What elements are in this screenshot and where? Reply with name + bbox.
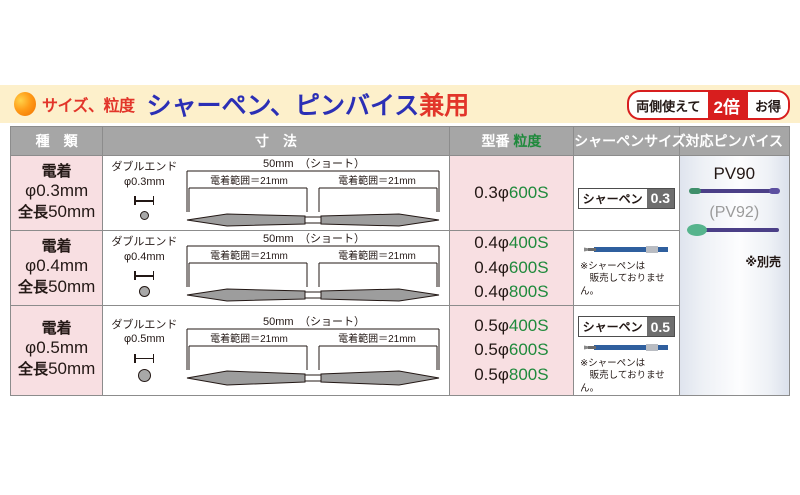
bit-dimension-drawing: 50mm （ショート） 電着範囲＝21mm 電着範囲＝21mm [183, 314, 445, 388]
coat-range-right-label: 電着範囲＝21mm [338, 249, 416, 262]
kind-line3: 全長50mm [11, 277, 102, 298]
model-item: 0.5φ400S [450, 314, 573, 339]
col-header-grain: 粒度 [513, 133, 541, 149]
model-item: 0.5φ800S [450, 363, 573, 388]
pin-vise-image-2 [685, 222, 783, 238]
header-title: シャーペン、ピンバイス兼用 [147, 86, 470, 122]
kind-length-label: 全長 [18, 279, 48, 296]
model-size: 0.4φ [474, 282, 509, 301]
cell-dimension: ダブルエンド φ0.3mm 50mm （ショート） 電着範囲＝21mm [103, 156, 449, 231]
pin-vise-image-1 [685, 184, 783, 198]
promo-multiplier: 2倍 [708, 92, 746, 118]
model-grain: 400S [509, 233, 549, 252]
model-grain: 600S [509, 183, 549, 202]
model-item: 0.5φ600S [450, 338, 573, 363]
bit-dimension-drawing: 50mm （ショート） 電着範囲＝21mm 電着範囲＝21mm [183, 156, 445, 230]
model-size: 0.3φ [474, 183, 509, 202]
promo-right-text: お得 [746, 92, 788, 118]
dimension-label-line1: ダブルエンド [111, 161, 177, 173]
header-title-main: シャーペン、ピンバイス [147, 92, 420, 120]
dimension-diagram: ダブルエンド φ0.4mm 50mm （ショート） 電着範囲＝21mm [103, 231, 448, 305]
header-title-highlight: 兼用 [419, 92, 469, 120]
orange-circle-icon [14, 92, 36, 116]
cell-model: 0.3φ600S [449, 156, 573, 231]
diameter-dot-icon [140, 211, 149, 220]
table-row: 電着 φ0.3mm 全長50mm ダブルエンド φ0.3mm 50mm （ショー… [11, 156, 790, 231]
kind-length-value: 50mm [48, 277, 95, 296]
model-item: 0.4φ600S [450, 256, 573, 281]
table-header-row: 種 類 寸 法 型番 粒度 シャーペンサイズ 対応ピンバイス [11, 127, 790, 156]
promo-badge: 両側使えて 2倍 お得 [627, 90, 790, 120]
diameter-bracket-icon [134, 271, 154, 280]
dimension-diagram: ダブルエンド φ0.5mm 50mm （ショート） 電着範囲＝21mm [103, 314, 448, 388]
cell-dimension: ダブルエンド φ0.4mm 50mm （ショート） 電着範囲＝21mm [103, 231, 449, 306]
model-item: 0.3φ600S [450, 181, 573, 206]
model-grain: 800S [509, 282, 549, 301]
kind-line2: φ0.5mm [11, 338, 102, 359]
pencil-badge-label: シャーペン [579, 189, 647, 208]
coat-range-left-label: 電着範囲＝21mm [210, 174, 288, 187]
bit-dimension-drawing: 50mm （ショート） 電着範囲＝21mm 電着範囲＝21mm [183, 231, 445, 305]
dimension-label-line2: φ0.3mm [107, 175, 181, 190]
diameter-bracket-icon [134, 196, 154, 205]
kind-line1: 電着 [11, 320, 102, 338]
header-subtitle: サイズ、粒度 [42, 92, 135, 116]
col-header-pencil-size: シャーペンサイズ [574, 127, 679, 156]
pencil-not-sold-note: ※シャーペンは 販売しておりません。 [574, 358, 678, 395]
col-header-pin-vise: 対応ピンバイス [679, 127, 789, 156]
cell-pencil-size: ※シャーペンは 販売しておりません。 [574, 231, 679, 306]
model-grain: 600S [509, 258, 549, 277]
model-size: 0.5φ [474, 340, 509, 359]
table-row: 電着 φ0.4mm 全長50mm ダブルエンド φ0.4mm 50mm （ショー… [11, 231, 790, 306]
col-header-dimension: 寸 法 [103, 127, 449, 156]
diameter-dot-icon [138, 369, 151, 382]
pencil-size-badge: シャーペン 0.3 [578, 188, 675, 209]
model-item: 0.4φ400S [450, 231, 573, 256]
model-size: 0.5φ [474, 316, 509, 335]
cell-model: 0.5φ400S 0.5φ600S 0.5φ800S [449, 306, 573, 396]
dimension-label-line2: φ0.5mm [107, 332, 181, 347]
kind-line1: 電着 [11, 238, 102, 256]
cell-kind: 電着 φ0.4mm 全長50mm [11, 231, 103, 306]
model-size: 0.4φ [474, 258, 509, 277]
pin-vise-note: ※別売 [680, 253, 789, 270]
total-length-label: 50mm （ショート） [263, 232, 365, 245]
coat-range-right-label: 電着範囲＝21mm [338, 332, 416, 345]
dimension-diagram: ダブルエンド φ0.3mm 50mm （ショート） 電着範囲＝21mm [103, 156, 448, 230]
pencil-not-sold-note: ※シャーペンは 販売しておりません。 [574, 261, 678, 298]
coat-range-left-label: 電着範囲＝21mm [210, 332, 288, 345]
kind-length-value: 50mm [48, 202, 95, 221]
mechanical-pencil-icon [580, 240, 672, 258]
dimension-label: ダブルエンド φ0.4mm [107, 235, 181, 265]
cell-model: 0.4φ400S 0.4φ600S 0.4φ800S [449, 231, 573, 306]
kind-line3: 全長50mm [11, 359, 102, 380]
model-grain: 800S [509, 365, 549, 384]
dimension-label-line1: ダブルエンド [111, 319, 177, 331]
cell-kind: 電着 φ0.3mm 全長50mm [11, 156, 103, 231]
pencil-badge-value: 0.3 [647, 189, 674, 208]
model-grain: 400S [509, 316, 549, 335]
cell-dimension: ダブルエンド φ0.5mm 50mm （ショート） 電着範囲＝21mm [103, 306, 449, 396]
total-length-label: 50mm （ショート） [263, 315, 365, 328]
kind-length-label: 全長 [18, 204, 48, 221]
model-item: 0.4φ800S [450, 280, 573, 305]
total-length-label: 50mm （ショート） [263, 157, 365, 170]
kind-line1: 電着 [11, 163, 102, 181]
kind-length-value: 50mm [48, 359, 95, 378]
dimension-label-line2: φ0.4mm [107, 250, 181, 265]
dimension-label: ダブルエンド φ0.5mm [107, 318, 181, 348]
diameter-dot-icon [139, 286, 150, 297]
promo-left-text: 両側使えて [629, 92, 707, 118]
dimension-label: ダブルエンド φ0.3mm [107, 160, 181, 190]
kind-line3: 全長50mm [11, 202, 102, 223]
model-size: 0.5φ [474, 365, 509, 384]
diameter-bracket-icon [134, 354, 154, 363]
pin-vise-model: PV90 [680, 164, 789, 184]
col-header-kind: 種 類 [11, 127, 103, 156]
cell-pencil-size: シャーペン 0.3 [574, 156, 679, 231]
product-spec-sheet: サイズ、粒度 シャーペン、ピンバイス兼用 両側使えて 2倍 お得 種 類 寸 法… [0, 0, 800, 495]
pencil-badge-label: シャーペン [579, 317, 647, 336]
model-grain: 600S [509, 340, 549, 359]
table-row: 電着 φ0.5mm 全長50mm ダブルエンド φ0.5mm 50mm （ショー… [11, 306, 790, 396]
pencil-size-badge: シャーペン 0.5 [578, 316, 675, 337]
cell-pin-vise: PV90 (PV92) ※別売 [679, 156, 789, 396]
dimension-label-line1: ダブルエンド [111, 236, 177, 248]
pin-vise-model-alt: (PV92) [680, 204, 789, 222]
coat-range-left-label: 電着範囲＝21mm [210, 249, 288, 262]
kind-line2: φ0.4mm [11, 256, 102, 277]
mechanical-pencil-icon [580, 339, 672, 355]
col-header-model-grain: 型番 粒度 [449, 127, 573, 156]
model-size: 0.4φ [474, 233, 509, 252]
pencil-badge-value: 0.5 [647, 317, 674, 336]
spec-table: 種 類 寸 法 型番 粒度 シャーペンサイズ 対応ピンバイス 電着 φ0.3mm… [10, 126, 790, 396]
kind-line2: φ0.3mm [11, 181, 102, 202]
cell-pencil-size: シャーペン 0.5 ※シャーペンは 販売しておりません。 [574, 306, 679, 396]
coat-range-right-label: 電着範囲＝21mm [338, 174, 416, 187]
col-header-model: 型番 [481, 133, 509, 149]
cell-kind: 電着 φ0.5mm 全長50mm [11, 306, 103, 396]
kind-length-label: 全長 [18, 361, 48, 378]
